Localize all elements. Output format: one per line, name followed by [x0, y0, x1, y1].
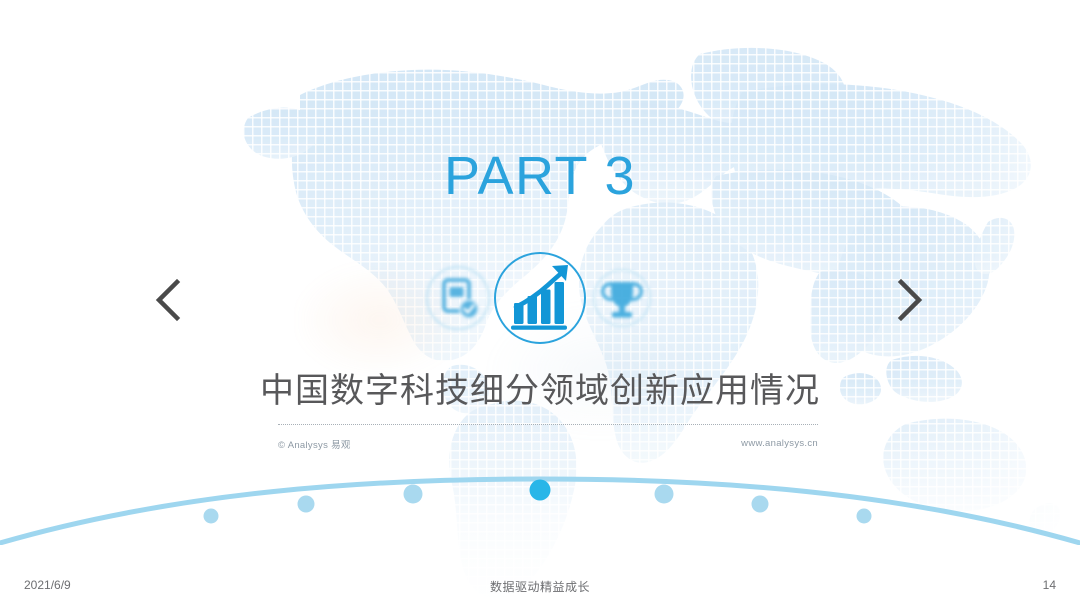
chevron-left-icon [153, 277, 183, 323]
progress-arc [0, 455, 1080, 545]
slide-canvas: PART 3 [0, 0, 1080, 608]
website-url[interactable]: www.analysys.cn [0, 438, 818, 449]
bar-chart-growth-icon [486, 244, 594, 352]
chevron-right-icon [895, 277, 925, 323]
footer-tagline: 数据驱动精益成长 [0, 578, 1080, 595]
document-check-icon [422, 262, 494, 334]
progress-dot[interactable] [857, 509, 872, 524]
progress-dot-active[interactable] [530, 480, 551, 501]
next-slide-button[interactable] [882, 272, 938, 328]
progress-dot[interactable] [655, 485, 674, 504]
progress-dot[interactable] [752, 496, 769, 513]
part-title: PART 3 [0, 148, 1080, 205]
prev-slide-button[interactable] [140, 272, 196, 328]
footer-page-number: 14 [1043, 578, 1056, 592]
progress-dot[interactable] [204, 509, 219, 524]
dotted-divider [278, 424, 818, 426]
progress-dot[interactable] [298, 496, 315, 513]
icon-cluster [408, 248, 672, 348]
progress-dot[interactable] [404, 485, 423, 504]
trophy-icon [586, 262, 658, 334]
page-title: 中国数字科技细分领域创新应用情况 [0, 370, 1080, 413]
